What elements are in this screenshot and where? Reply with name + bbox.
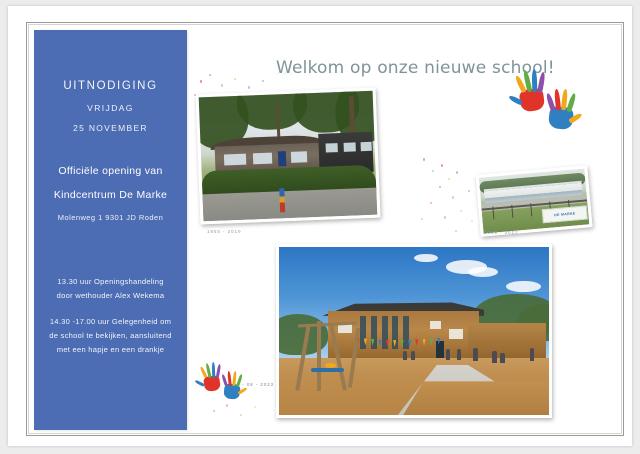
photo-temporary-building: DE MARKE	[476, 165, 593, 237]
caption-temporary-building: 2019 - 2022	[484, 230, 518, 235]
invitation-panel: UITNODIGING VRIJDAG 25 NOVEMBER Officiël…	[34, 30, 187, 430]
program-item-2: 14.30 -17.00 uur Gelegenheid om de schoo…	[42, 315, 179, 357]
handprint-logo-top	[513, 61, 585, 133]
school-sign-text: DE MARKE	[554, 212, 576, 218]
photo-new-school	[276, 244, 552, 418]
event-address: Molenweg 1 9301 JD Roden	[42, 213, 179, 222]
invitation-page: UITNODIGING VRIJDAG 25 NOVEMBER Officiël…	[8, 6, 632, 446]
event-line-1: Officiële opening van	[42, 165, 179, 177]
bunting-flags	[355, 336, 447, 351]
handprint-blue-small	[220, 369, 246, 400]
invitation-date: 25 NOVEMBER	[42, 123, 179, 133]
caption-old-school: 1955 - 2019	[207, 229, 241, 234]
handprint-blue	[543, 85, 581, 131]
screenshot-canvas: UITNODIGING VRIJDAG 25 NOVEMBER Officiël…	[0, 0, 640, 454]
photo-old-school	[196, 88, 381, 225]
program-item-1: 13.30 uur Openingshandeling door wethoud…	[42, 275, 179, 303]
invitation-day: VRIJDAG	[42, 103, 179, 113]
invitation-title: UITNODIGING	[42, 80, 179, 92]
handprint-logo-bottom	[200, 358, 248, 402]
event-line-2: Kindcentrum De Marke	[42, 189, 179, 201]
